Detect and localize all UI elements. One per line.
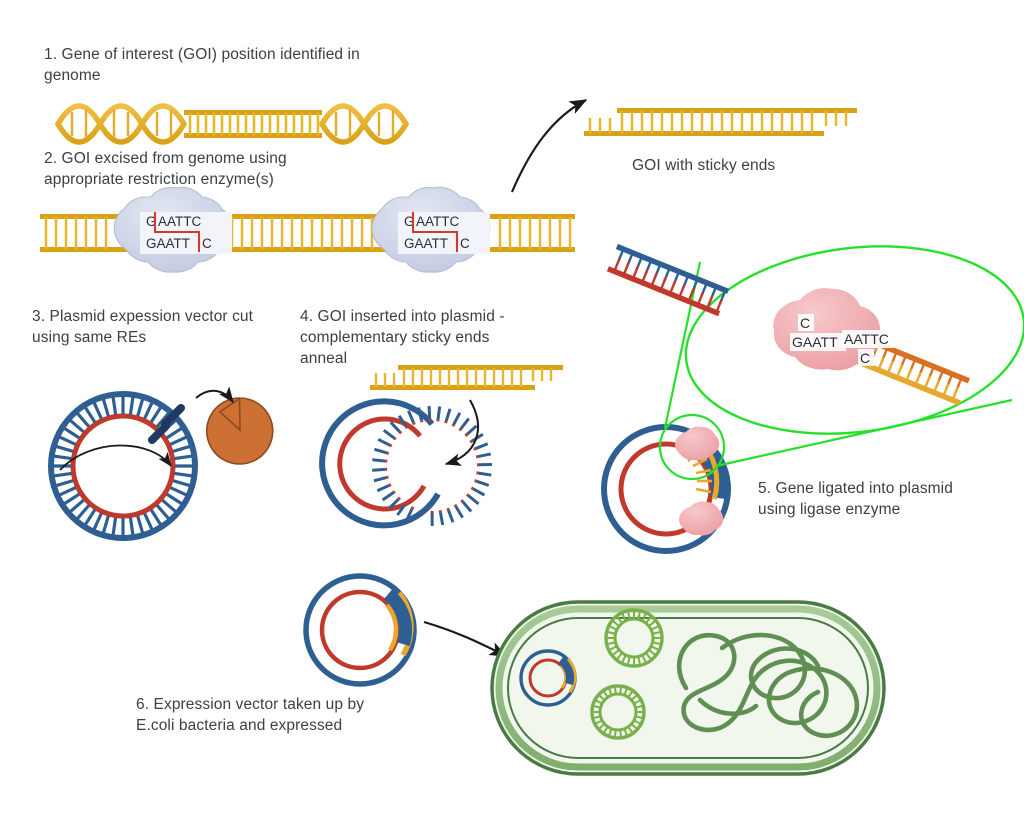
restriction-enzyme-complex-2: G AATTC GAATT C [372,187,490,272]
diagram-svg: G AATTC GAATT C G AATTC GAATT C [0,0,1024,819]
goi-fragment-sticky-ends [584,108,857,136]
ecoli-bacterium [492,602,884,774]
goi-region-in-genome [184,110,322,138]
restriction-enzyme-orange-icon [207,398,273,464]
magnified-ligation-junction: C GAATT AATTC C [607,244,970,406]
re1-top-right: AATTC [158,214,201,229]
excision-arrow [512,100,586,192]
zoom-gene-top-label: AATTC [844,331,889,347]
re1-bottom-right: C [202,236,212,251]
genomic-dna-helix [58,106,406,142]
zoom-gene-bottom-label: C [860,350,870,366]
callout-leader-bottom [716,400,1012,466]
re2-top-right: AATTC [416,214,459,229]
diagram-canvas: 1. Gene of interest (GOI) position ident… [0,0,1024,819]
recombinant-plasmid [306,576,414,684]
genome-with-restriction-enzymes: G AATTC GAATT C G AATTC GAATT C [40,187,575,272]
zoom-plasmid-top-label: C [800,315,810,331]
zoom-plasmid-bottom-label: GAATT [792,334,838,350]
restriction-enzyme-complex-1: G AATTC GAATT C [114,187,232,272]
re2-bottom-right: C [460,236,470,251]
plasmid-linearized-open [322,400,492,526]
re2-bottom-left: GAATT [404,236,448,251]
plasmid-intact [51,391,273,538]
re1-bottom-left: GAATT [146,236,190,251]
ligase-blob-bottom [679,502,723,536]
transformation-arrow [424,622,506,656]
plasmid-ligated [604,427,728,551]
goi-fragment-for-insertion [370,365,563,390]
